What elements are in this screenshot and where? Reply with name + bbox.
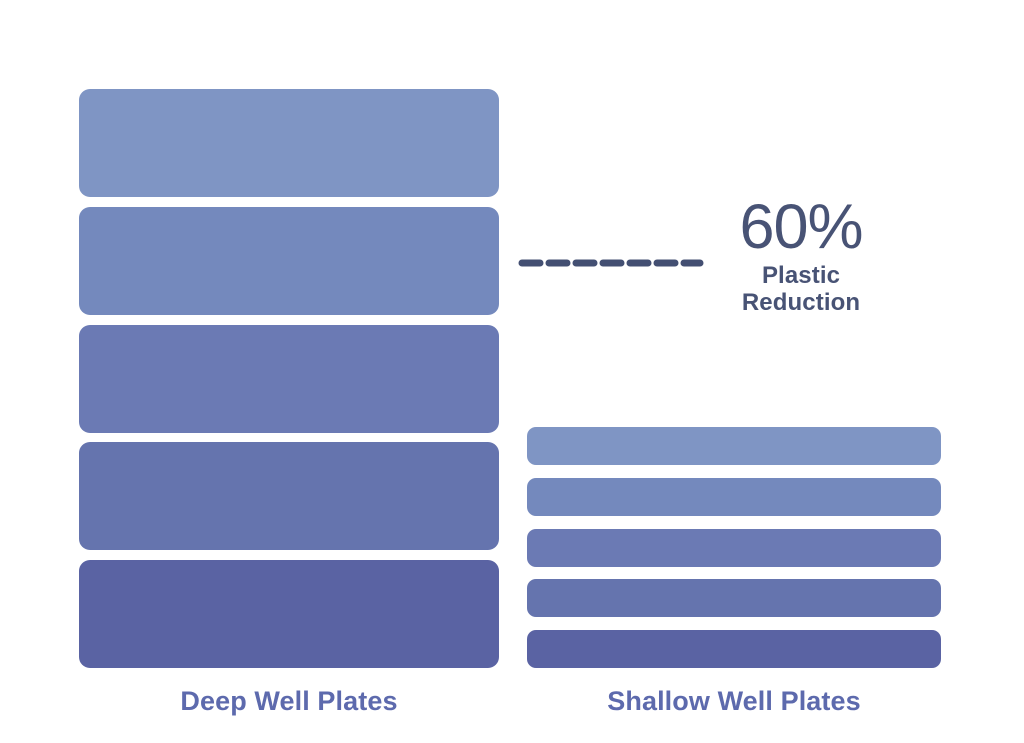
plate-bar xyxy=(79,89,499,197)
plate-bar xyxy=(527,478,941,516)
callout-caption-line-2: Reduction xyxy=(706,290,896,317)
bar-stack-shallow-well-plates xyxy=(527,427,941,668)
callout-caption-line-1: Plastic xyxy=(706,263,896,290)
plate-bar xyxy=(527,579,941,617)
category-label-shallow-well-plates: Shallow Well Plates xyxy=(527,686,941,717)
bar-stack-deep-well-plates xyxy=(79,89,499,668)
plate-bar xyxy=(79,560,499,668)
plate-bar xyxy=(79,325,499,433)
plate-bar xyxy=(527,630,941,668)
plate-bar xyxy=(79,207,499,315)
dashed-connector-line xyxy=(517,254,705,272)
plate-bar xyxy=(79,442,499,550)
plate-bar xyxy=(527,529,941,567)
infographic-canvas: Deep Well Plates Shallow Well Plates 60%… xyxy=(0,0,1024,743)
callout-caption: Plastic Reduction xyxy=(706,263,896,317)
category-label-deep-well-plates: Deep Well Plates xyxy=(79,686,499,717)
callout-percentage-value: 60% xyxy=(706,196,896,259)
reduction-callout: 60% Plastic Reduction xyxy=(706,196,896,317)
plate-bar xyxy=(527,427,941,465)
